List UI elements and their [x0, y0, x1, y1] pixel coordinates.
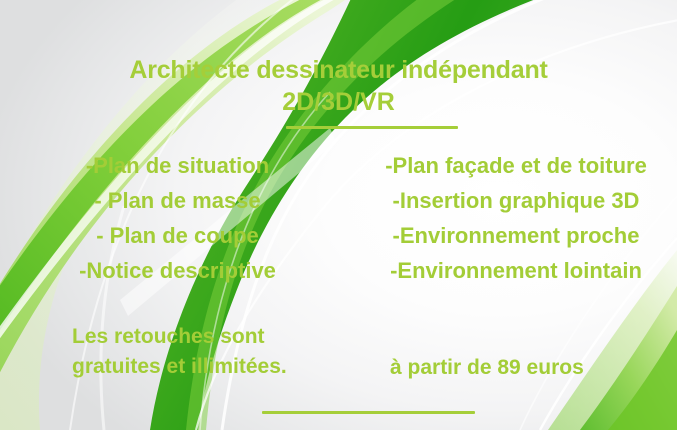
service-item-left: - Plan de coupe [0, 223, 355, 249]
retouches-note: Les retouches sont gratuites et illimité… [72, 322, 287, 382]
services-list: -Plan de situation -Plan façade et de to… [0, 148, 677, 288]
title-underline [286, 126, 458, 129]
service-item-right: -Insertion graphique 3D [355, 188, 677, 214]
service-item-right: -Plan façade et de toiture [355, 153, 677, 179]
service-item-left: -Notice descriptive [0, 258, 355, 284]
footer-underline [262, 411, 475, 414]
service-row: -Notice descriptive -Environnement loint… [0, 253, 677, 288]
poster-content: Architecte dessinateur indépendant 2D/3D… [0, 0, 677, 430]
service-item-left: -Plan de situation [0, 153, 355, 179]
service-row: -Plan de situation -Plan façade et de to… [0, 148, 677, 183]
price-note: à partir de 89 euros [390, 356, 584, 380]
service-item-left: - Plan de masse [0, 188, 355, 214]
page-title: Architecte dessinateur indépendant [0, 56, 677, 86]
service-item-right: -Environnement lointain [355, 258, 677, 284]
service-row: - Plan de masse -Insertion graphique 3D [0, 183, 677, 218]
poster-canvas: Architecte dessinateur indépendant 2D/3D… [0, 0, 677, 430]
service-row: - Plan de coupe -Environnement proche [0, 218, 677, 253]
page-subtitle: 2D/3D/VR [0, 88, 677, 118]
service-item-right: -Environnement proche [355, 223, 677, 249]
retouches-line-2: gratuites et illimitées. [72, 352, 287, 382]
title-block: Architecte dessinateur indépendant 2D/3D… [0, 56, 677, 117]
retouches-line-1: Les retouches sont [72, 322, 287, 352]
